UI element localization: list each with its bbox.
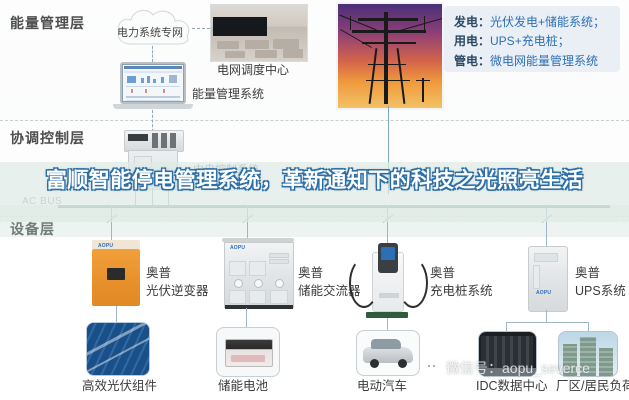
layer-label-coordination: 协调控制层: [10, 128, 85, 148]
ups-label-line2: UPS系统: [575, 282, 626, 300]
link-ups-down: [546, 310, 547, 322]
ups-brandmark: AOPU: [536, 290, 551, 296]
storage-battery-label: 储能电池: [218, 378, 268, 395]
converter-brandmark: AOPU: [230, 245, 245, 251]
legend-key-consumption: 用电：: [454, 34, 490, 48]
ups-label: 奥普 UPS系统: [575, 264, 626, 300]
link-ems-control: [152, 110, 153, 132]
microgrid-architecture-diagram: 能量管理层 协调控制层 设备层 电力系统专网 电网调度中心: [0, 0, 629, 400]
pv-inverter-label-line2: 光伏逆变器: [146, 282, 209, 300]
legend-row-management: 管电：微电网能量管理系统: [454, 52, 610, 71]
legend-row-generation: 发电：光伏发电+储能系统；: [454, 13, 610, 32]
pv-inverter-label: 奥普 光伏逆变器: [146, 264, 209, 300]
divider-energy-coord: [0, 120, 629, 121]
control-cabinet-icon: [124, 130, 184, 152]
legend-key-generation: 发电：: [454, 15, 490, 29]
ev-charger-label: 奥普 充电桩系统: [430, 264, 493, 300]
inverter-brandmark: AOPU: [98, 243, 113, 249]
ups-label-line1: 奥普: [575, 264, 626, 282]
solar-panel-icon: [86, 322, 150, 376]
layer-label-energy: 能量管理层: [10, 13, 85, 33]
pv-inverter-label-line1: 奥普: [146, 264, 209, 282]
transmission-tower-photo: [336, 2, 444, 110]
link-cloud-dispatch: [192, 28, 210, 29]
dispatch-center-label: 电网调度中心: [217, 62, 289, 78]
charging-cable-right: [398, 258, 428, 308]
idc-label: IDC数据中心: [476, 378, 548, 395]
battery-icon: [216, 327, 280, 377]
control-room-photo: [210, 4, 308, 62]
watermark: 微信号：aopu_severce: [424, 358, 590, 378]
link-ups-split: [506, 322, 588, 323]
title-overlay-text: 富顺智能停电管理系统，革新通知下的科技之光照亮生活: [0, 166, 629, 195]
inverter-icon: [92, 249, 140, 306]
laptop-icon: [120, 62, 186, 110]
legend-value-consumption: UPS+充电桩；: [490, 34, 570, 48]
link-cloud-ems: [152, 46, 153, 62]
converter-cabinet-icon: [224, 242, 294, 308]
electric-car-icon: [356, 330, 420, 376]
legend-value-management: 微电网能量管理系统: [490, 54, 598, 68]
ups-cabinet-icon: [528, 246, 568, 312]
ev-charger-label-line2: 充电桩系统: [430, 282, 493, 300]
layer-label-device: 设备层: [10, 219, 55, 239]
ems-label: 能量管理系统: [192, 86, 264, 102]
legend-value-generation: 光伏发电+储能系统；: [490, 15, 605, 29]
legend-box: 发电：光伏发电+储能系统； 用电：UPS+充电桩； 管电：微电网能量管理系统: [444, 6, 620, 72]
charging-cable-left: [349, 258, 379, 308]
ev-car-label: 电动汽车: [357, 378, 407, 395]
ev-charger-label-line1: 奥普: [430, 264, 493, 282]
cloud-label: 电力系统专网: [117, 24, 183, 40]
watermark-text: 微信号：aopu_severce: [446, 358, 590, 378]
legend-key-management: 管电：: [454, 54, 490, 68]
wechat-icon: [424, 361, 441, 375]
legend-row-consumption: 用电：UPS+充电桩；: [454, 32, 610, 51]
pv-modules-label: 高效光伏组件: [82, 378, 157, 395]
load-label: 厂区/居民负荷: [556, 378, 629, 395]
drop-ups-2: [546, 236, 547, 246]
